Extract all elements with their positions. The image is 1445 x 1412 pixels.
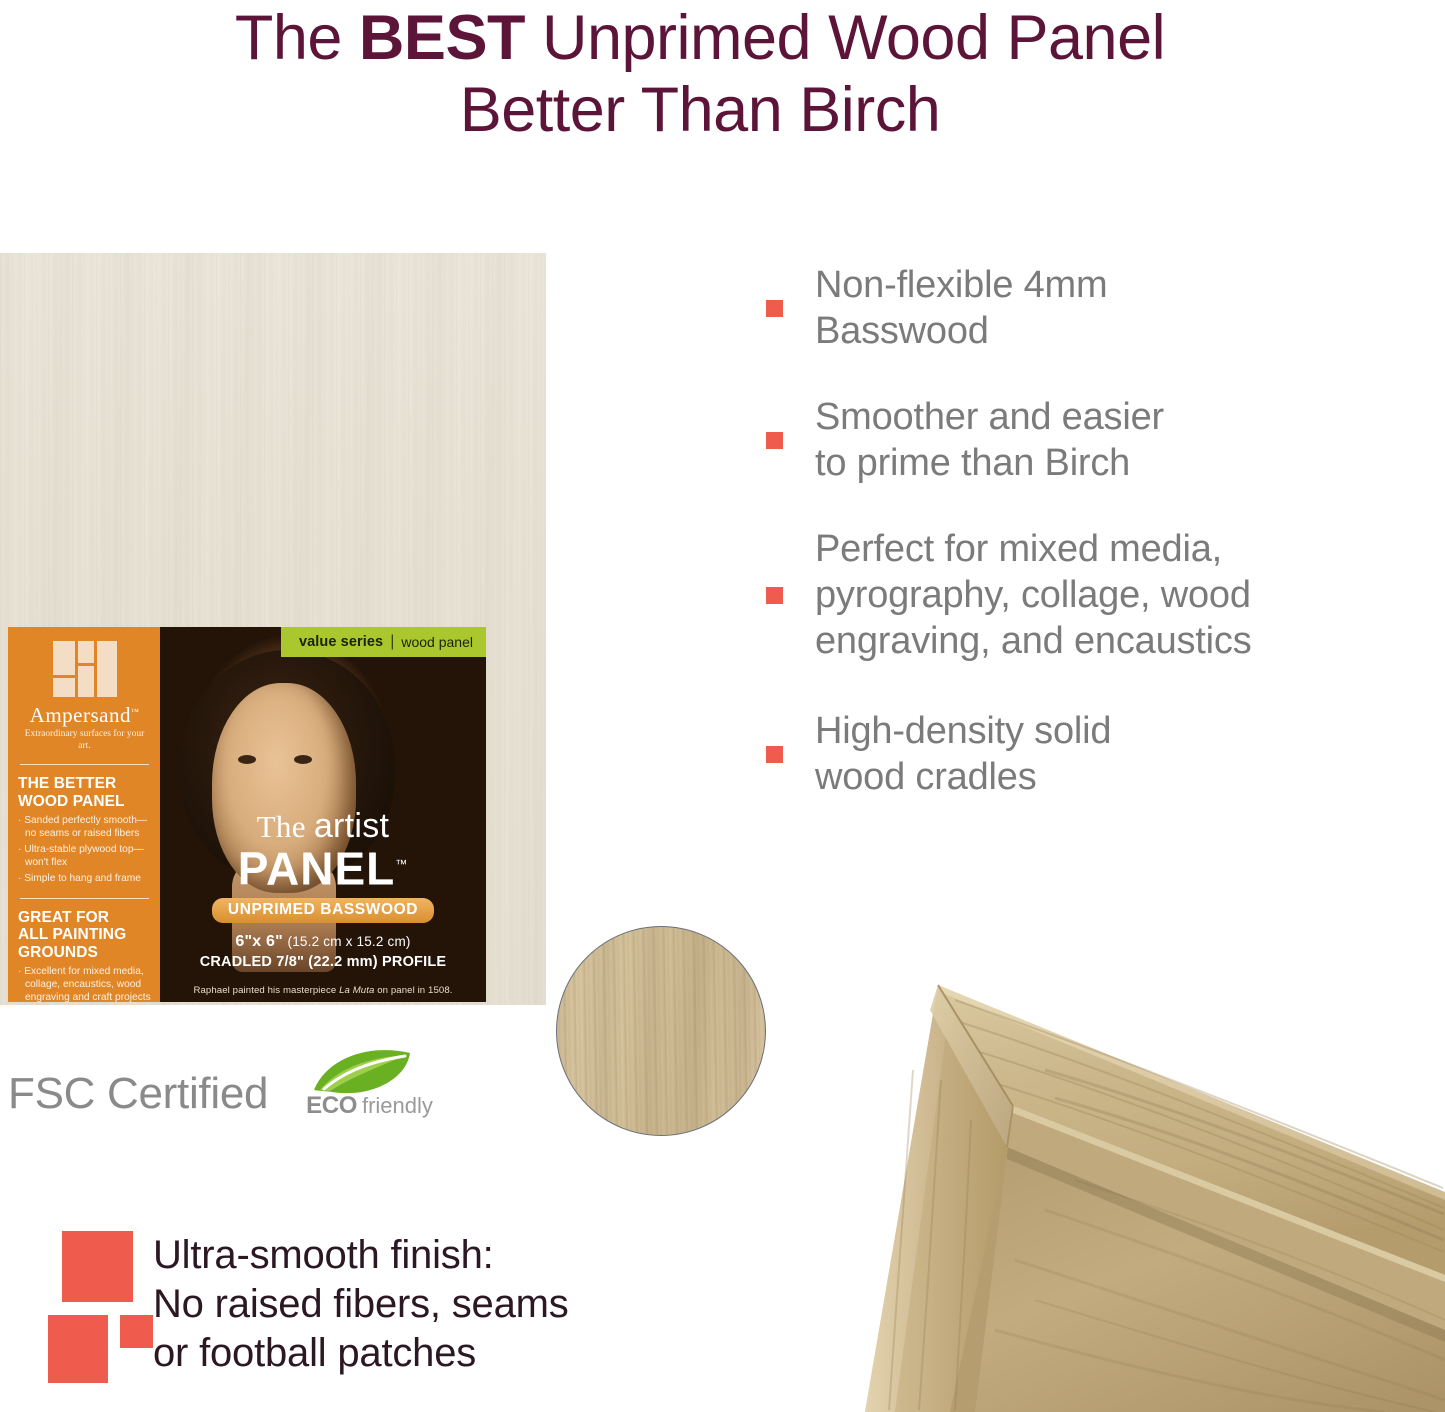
product-dimensions: 6"x 6" (15.2 cm x 15.2 cm) CRADLED 7/8" … — [160, 932, 486, 972]
bottom-line-2: No raised fibers, seams — [153, 1280, 569, 1329]
fsc-certified-label: FSC Certified — [8, 1070, 268, 1118]
headline-line-1: The BEST Unprimed Wood Panel — [0, 2, 1400, 74]
label-section1-bullet: · Ultra-stable plywood top— won't flex — [18, 844, 151, 869]
feature-bullet-item: Smoother and easierto prime than Birch — [766, 394, 1436, 486]
headline-line-2: Better Than Birch — [0, 74, 1400, 146]
label-info-column: Ampersand™ Extraordinary surfaces for yo… — [8, 627, 160, 1002]
headline-emphasis: BEST — [359, 3, 525, 73]
brand-name: Ampersand™ — [18, 701, 151, 726]
product-title-block: The artist PANEL™ UNPRIMED BASSWOOD 6"x … — [160, 810, 486, 972]
series-tag-bold: value series — [299, 634, 383, 650]
bullet-square-icon — [766, 746, 783, 763]
brand-trademark: ™ — [131, 707, 139, 716]
red-squares-accent-icon — [48, 1231, 140, 1383]
label-divider-1 — [20, 764, 149, 765]
feature-bullet-text: Perfect for mixed media,pyrography, coll… — [815, 526, 1252, 664]
feature-bullet-text: Non-flexible 4mmBasswood — [815, 262, 1107, 354]
bullet-square-icon — [766, 432, 783, 449]
bottom-line-1: Ultra-smooth finish: — [153, 1231, 569, 1280]
ampersand-grid-mark-icon — [53, 641, 117, 697]
eco-bold: ECO — [306, 1092, 357, 1119]
label-portrait-photo: value series | wood panel The artist PAN… — [160, 627, 486, 1002]
label-divider-2 — [20, 898, 149, 899]
product-title-artist: artist — [314, 807, 389, 845]
bottom-statement-text: Ultra-smooth finish: No raised fibers, s… — [153, 1231, 569, 1378]
certification-row: FSC Certified ECOfriendly — [8, 1052, 428, 1136]
feature-bullet-text: High-density solidwood cradles — [815, 708, 1111, 800]
feature-bullet-text: Smoother and easierto prime than Birch — [815, 394, 1164, 486]
label-section2-heading: GREAT FOR ALL PAINTING GROUNDS — [18, 909, 151, 962]
page-headline: The BEST Unprimed Wood Panel Better Than… — [0, 2, 1400, 146]
bottom-line-3: or football patches — [153, 1329, 569, 1378]
series-tag-separator: | — [390, 633, 394, 651]
series-tag-normal: wood panel — [401, 634, 473, 650]
headline-post: Unprimed Wood Panel — [525, 3, 1165, 73]
feature-bullet-item: Perfect for mixed media,pyrography, coll… — [766, 526, 1436, 664]
product-variant-badge: UNPRIMED BASSWOOD — [212, 898, 434, 923]
product-package-label: Ampersand™ Extraordinary surfaces for yo… — [8, 627, 486, 1002]
feature-bullet-item: High-density solidwood cradles — [766, 708, 1436, 800]
feature-bullet-item: Non-flexible 4mmBasswood — [766, 262, 1436, 354]
product-title-tm: ™ — [395, 857, 408, 871]
brand-tagline: Extraordinary surfaces for your art. — [18, 728, 151, 752]
label-section1-bullet: · Simple to hang and frame — [18, 873, 151, 886]
label-section2-bullet: · Excellent for mixed media, collage, en… — [18, 966, 151, 1002]
portrait-eye-left — [238, 755, 256, 764]
label-section1-heading: THE BETTER WOOD PANEL — [18, 775, 151, 810]
cradled-panel-corner-photo — [745, 930, 1445, 1412]
headline-pre: The — [235, 3, 359, 73]
feature-bullet-list: Non-flexible 4mmBasswood Smoother and ea… — [766, 262, 1436, 840]
wood-grain-closeup-circle-icon — [556, 926, 766, 1136]
bullet-square-icon — [766, 300, 783, 317]
eco-normal: friendly — [362, 1093, 433, 1118]
product-title-panel: PANEL™ — [160, 841, 486, 891]
bottom-statement: Ultra-smooth finish: No raised fibers, s… — [48, 1231, 569, 1383]
green-leaf-icon — [310, 1050, 414, 1096]
portrait-eye-right — [294, 755, 312, 764]
product-profile: CRADLED 7/8" (22.2 mm) PROFILE — [160, 952, 486, 972]
bullet-square-icon — [766, 587, 783, 604]
label-section1-bullet: · Sanded perfectly smooth— no seams or r… — [18, 815, 151, 840]
eco-friendly-badge: ECOfriendly — [304, 1052, 428, 1136]
series-tag-badge: value series | wood panel — [281, 627, 486, 657]
product-title-line1: The artist — [160, 810, 486, 843]
product-footnote: Raphael painted his masterpiece La Muta … — [160, 985, 486, 996]
eco-friendly-text: ECOfriendly — [306, 1092, 433, 1120]
